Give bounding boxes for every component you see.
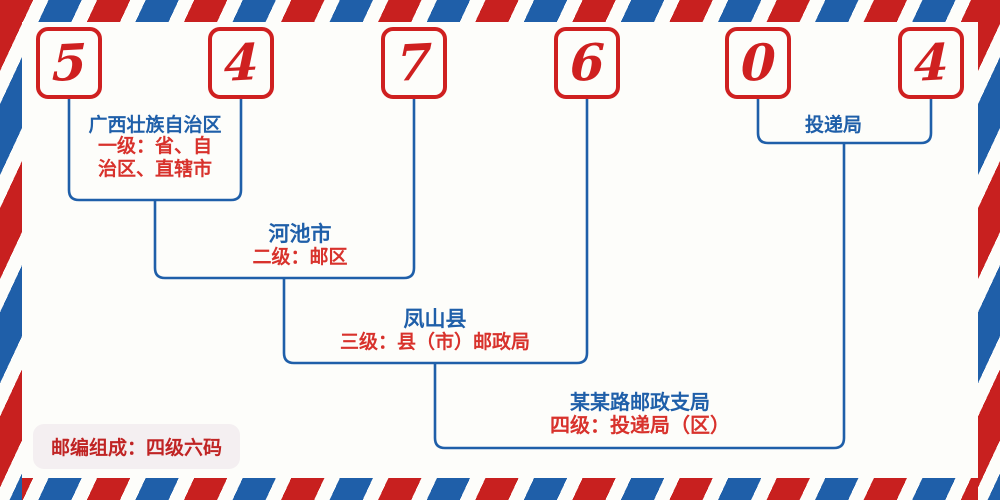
airmail-border-bottom (0, 478, 1000, 500)
digit-glyph: 5 (51, 37, 87, 89)
postcode-diagram: 5 4 7 6 0 4 广西壮族自治区 一级：省、自 治区、直辖市 河池市 二级… (0, 0, 1000, 500)
level-1-level-line1: 一级：省、自 (75, 136, 235, 159)
level-4-label: 某某路邮政支局 四级：投递局（区） (500, 391, 780, 438)
postcode-digit-4[interactable]: 6 (554, 27, 620, 99)
level-1-label: 广西壮族自治区 一级：省、自 治区、直辖市 (75, 114, 235, 182)
airmail-border-top (0, 0, 1000, 22)
level-4-level: 四级：投递局（区） (500, 415, 780, 439)
digit-glyph: 0 (740, 37, 776, 89)
level-3-name: 凤山县 (295, 307, 575, 332)
level-2-label: 河池市 二级：邮区 (185, 222, 415, 269)
level-4-name: 某某路邮政支局 (500, 391, 780, 415)
level-2-name: 河池市 (185, 222, 415, 247)
postcode-digit-3[interactable]: 7 (381, 27, 447, 99)
digit-glyph: 7 (396, 37, 432, 89)
postcode-digit-5[interactable]: 0 (725, 27, 791, 99)
level-3-label: 凤山县 三级：县（市）邮政局 (295, 307, 575, 354)
level-1-name: 广西壮族自治区 (75, 114, 235, 136)
postcode-composition-badge: 邮编组成：四级六码 (33, 424, 240, 469)
level-3-level: 三级：县（市）邮政局 (295, 332, 575, 354)
postcode-digit-2[interactable]: 4 (208, 27, 274, 99)
airmail-border-left (0, 0, 22, 500)
postcode-digit-6[interactable]: 4 (898, 27, 964, 99)
digit-glyph: 6 (569, 37, 605, 89)
digit-glyph: 4 (913, 37, 949, 89)
delivery-office-label: 投递局 (805, 110, 862, 137)
airmail-border-right (978, 0, 1000, 500)
digit-glyph: 4 (223, 37, 259, 89)
postcode-digit-1[interactable]: 5 (36, 27, 102, 99)
level-2-level: 二级：邮区 (185, 247, 415, 269)
level-1-level-line2: 治区、直辖市 (75, 159, 235, 182)
